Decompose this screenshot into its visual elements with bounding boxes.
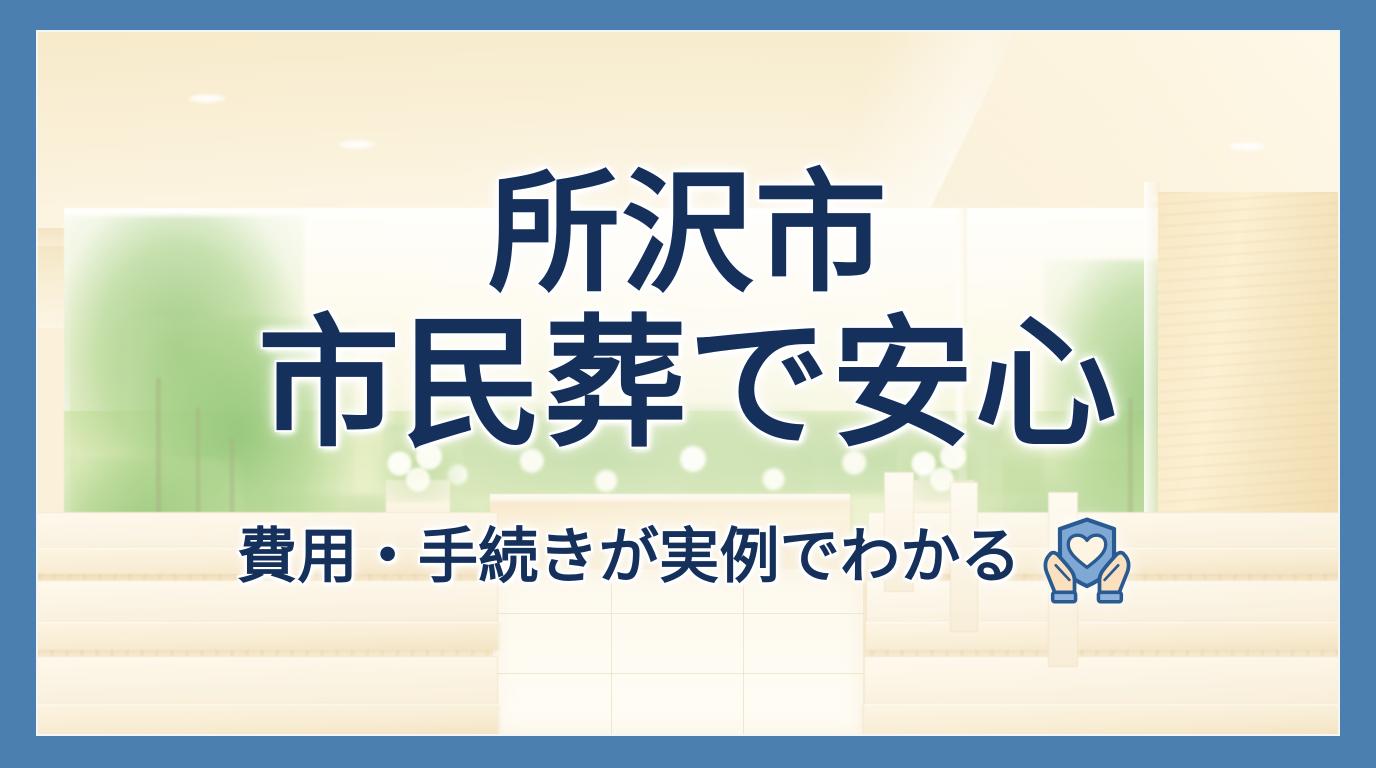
pew bbox=[864, 704, 1338, 734]
funeral-hall-photo bbox=[38, 32, 1338, 734]
pew bbox=[866, 622, 1338, 650]
pew-back bbox=[38, 580, 498, 626]
tile-line bbox=[743, 569, 744, 734]
tile-line bbox=[493, 673, 863, 674]
pew-back bbox=[38, 512, 498, 552]
pew-back bbox=[864, 656, 1338, 710]
downlight-icon bbox=[338, 140, 376, 149]
pew-end-post bbox=[950, 482, 978, 632]
pew-end-post bbox=[1048, 492, 1078, 667]
center-aisle bbox=[493, 569, 863, 734]
pew-back bbox=[866, 580, 1338, 626]
pew bbox=[38, 622, 498, 650]
pew-back bbox=[868, 512, 1338, 552]
pew bbox=[38, 548, 498, 574]
pew bbox=[868, 548, 1338, 574]
pew bbox=[38, 704, 498, 734]
tile-line bbox=[493, 613, 863, 614]
pew-end-post bbox=[884, 472, 914, 592]
tile-line bbox=[611, 569, 612, 734]
flower-bouquet bbox=[372, 432, 464, 502]
photo-frame bbox=[36, 30, 1340, 736]
pew-back bbox=[38, 656, 498, 710]
banner-image: 所沢市 市民葬で安心 費用・手続きが実例でわかる bbox=[0, 0, 1376, 768]
downlight-icon bbox=[188, 94, 226, 103]
downlight-icon bbox=[1228, 142, 1266, 151]
